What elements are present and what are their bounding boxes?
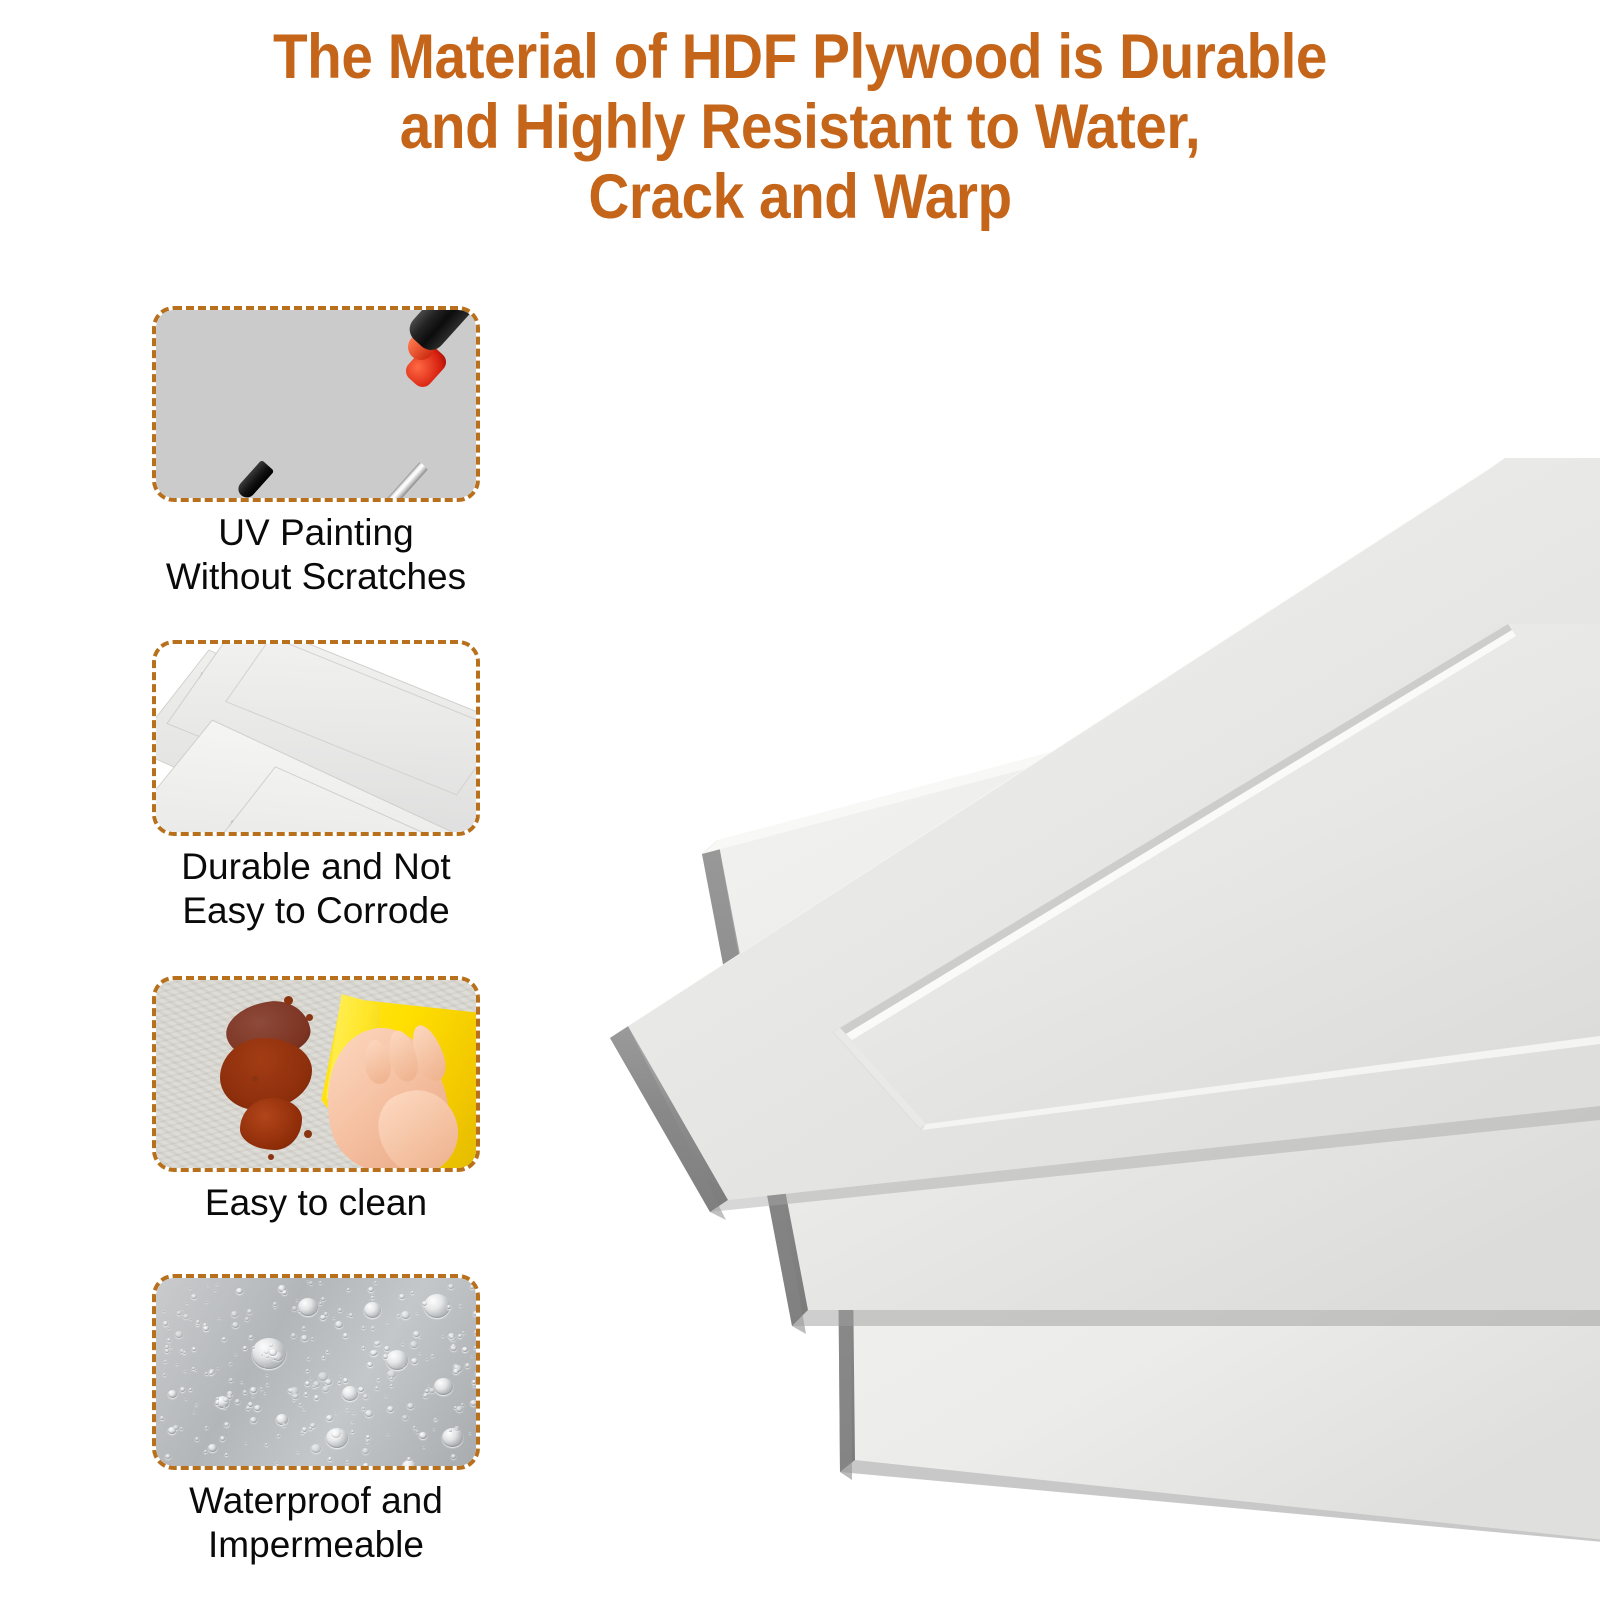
water-drop bbox=[195, 1369, 197, 1371]
panel-stack-illustration bbox=[600, 430, 1600, 1550]
water-drop bbox=[303, 1408, 305, 1410]
water-drop bbox=[189, 1388, 192, 1391]
water-drop bbox=[311, 1444, 321, 1453]
product-image bbox=[600, 430, 1600, 1550]
water-drop bbox=[435, 1418, 437, 1420]
water-drop bbox=[433, 1428, 435, 1430]
water-drop bbox=[340, 1375, 342, 1377]
stain-speck bbox=[306, 1014, 313, 1021]
water-drop bbox=[347, 1314, 349, 1316]
water-drop bbox=[218, 1317, 220, 1319]
water-drop bbox=[472, 1380, 476, 1384]
water-drop bbox=[196, 1320, 200, 1324]
water-drop bbox=[462, 1331, 465, 1334]
water-drop bbox=[353, 1412, 355, 1414]
water-drop bbox=[229, 1362, 232, 1365]
water-drop bbox=[310, 1377, 312, 1379]
water-drop bbox=[301, 1335, 308, 1341]
water-drop bbox=[302, 1427, 307, 1432]
water-drop bbox=[403, 1365, 405, 1367]
water-drop bbox=[320, 1315, 326, 1320]
feature-item-waterproof: Waterproof and Impermeable bbox=[152, 1274, 488, 1567]
screwdriver-icon bbox=[156, 310, 476, 498]
water-drop bbox=[331, 1429, 341, 1438]
water-drop bbox=[264, 1392, 266, 1394]
water-drop bbox=[474, 1330, 479, 1335]
water-drop bbox=[386, 1350, 408, 1370]
water-drop bbox=[351, 1421, 353, 1423]
water-drop bbox=[180, 1427, 183, 1430]
water-drop bbox=[160, 1416, 164, 1420]
water-drop bbox=[363, 1463, 369, 1468]
water-drop bbox=[473, 1385, 475, 1387]
water-drop bbox=[243, 1390, 247, 1394]
water-drop bbox=[422, 1301, 427, 1306]
water-drop bbox=[241, 1381, 243, 1383]
water-drop bbox=[180, 1387, 185, 1392]
water-drop bbox=[333, 1317, 335, 1319]
water-drop bbox=[326, 1350, 329, 1353]
water-drop bbox=[419, 1336, 421, 1338]
water-drop bbox=[311, 1337, 314, 1340]
water-drop bbox=[434, 1378, 453, 1395]
water-drop bbox=[456, 1406, 463, 1412]
water-drop bbox=[305, 1381, 310, 1386]
water-drop bbox=[449, 1429, 452, 1432]
water-drop bbox=[375, 1386, 379, 1390]
stacked-panels-icon bbox=[156, 644, 476, 832]
water-drop bbox=[321, 1297, 325, 1301]
water-drop bbox=[370, 1350, 377, 1356]
water-drop bbox=[362, 1326, 365, 1329]
water-drop bbox=[314, 1395, 319, 1400]
water-drop bbox=[471, 1355, 473, 1357]
water-drop bbox=[447, 1305, 451, 1309]
water-drop bbox=[266, 1374, 268, 1376]
water-drop bbox=[401, 1311, 410, 1319]
water-drop bbox=[177, 1311, 181, 1315]
water-drop bbox=[426, 1358, 428, 1360]
water-drop bbox=[223, 1406, 226, 1409]
water-drop bbox=[183, 1351, 186, 1354]
water-drop bbox=[163, 1373, 166, 1376]
water-drop bbox=[190, 1318, 192, 1320]
feature-item-uv-painting: UV Painting Without Scratches bbox=[152, 306, 488, 599]
water-drop bbox=[193, 1411, 195, 1413]
water-drop bbox=[428, 1385, 430, 1387]
water-drop bbox=[215, 1401, 219, 1405]
water-drop bbox=[222, 1337, 226, 1341]
stain-speck bbox=[304, 1130, 312, 1138]
water-drop bbox=[377, 1378, 380, 1381]
water-drop bbox=[346, 1460, 349, 1463]
feature-image-card bbox=[152, 640, 480, 836]
water-drop bbox=[407, 1403, 414, 1409]
water-drop bbox=[413, 1426, 416, 1429]
water-drop bbox=[304, 1392, 308, 1396]
water-drop bbox=[475, 1370, 480, 1376]
water-drop bbox=[469, 1432, 471, 1434]
water-drop bbox=[292, 1306, 297, 1311]
water-drop bbox=[181, 1308, 183, 1310]
water-drop bbox=[442, 1335, 444, 1337]
water-drop bbox=[214, 1289, 216, 1291]
water-drop bbox=[475, 1400, 477, 1402]
water-drop bbox=[448, 1333, 455, 1339]
feature-caption: Durable and Not Easy to Corrode bbox=[152, 845, 480, 933]
water-drop bbox=[366, 1435, 370, 1439]
water-drop bbox=[349, 1313, 353, 1317]
water-drop bbox=[296, 1299, 298, 1301]
water-drop bbox=[346, 1408, 349, 1411]
water-drop bbox=[282, 1423, 286, 1427]
water-drop bbox=[367, 1362, 373, 1367]
water-drop bbox=[419, 1352, 421, 1354]
water-drop bbox=[195, 1404, 197, 1406]
water-drop bbox=[371, 1326, 375, 1330]
water-drop bbox=[205, 1372, 208, 1375]
water-drop bbox=[351, 1430, 354, 1433]
stain-speck bbox=[268, 1154, 274, 1160]
water-drop bbox=[252, 1395, 254, 1397]
water-drop bbox=[254, 1405, 261, 1411]
water-drop bbox=[168, 1427, 176, 1434]
stain-speck bbox=[284, 996, 293, 1005]
water-drop bbox=[396, 1466, 399, 1469]
water-drop bbox=[293, 1399, 295, 1401]
water-drop bbox=[368, 1287, 374, 1292]
water-drop bbox=[184, 1370, 186, 1372]
water-drop bbox=[220, 1436, 225, 1441]
water-drop bbox=[260, 1387, 263, 1390]
water-drop bbox=[328, 1457, 332, 1461]
water-drop bbox=[312, 1385, 315, 1388]
feature-item-durable-not-corrode: Durable and Not Easy to Corrode bbox=[152, 640, 488, 933]
water-drop bbox=[387, 1406, 394, 1412]
water-drop bbox=[386, 1321, 388, 1323]
water-drop bbox=[168, 1390, 177, 1398]
feature-image-card bbox=[152, 1274, 480, 1470]
water-drop bbox=[165, 1454, 171, 1459]
water-drop bbox=[209, 1371, 213, 1375]
water-drop bbox=[442, 1428, 463, 1447]
water-drop bbox=[358, 1387, 364, 1392]
water-drop bbox=[322, 1356, 325, 1359]
water-drop bbox=[235, 1399, 240, 1404]
water-drop bbox=[397, 1314, 400, 1317]
water-drop bbox=[448, 1284, 454, 1289]
water-drop bbox=[390, 1377, 393, 1380]
water-drop bbox=[297, 1451, 299, 1453]
water-drop bbox=[163, 1310, 165, 1312]
water-drop bbox=[402, 1343, 404, 1345]
water-drop bbox=[429, 1388, 435, 1393]
water-drop bbox=[236, 1288, 243, 1294]
water-drop bbox=[192, 1347, 196, 1351]
water-drop bbox=[385, 1395, 387, 1397]
water-drop bbox=[186, 1302, 188, 1304]
water-drop bbox=[167, 1338, 171, 1342]
water-drop bbox=[410, 1341, 418, 1348]
water-drop bbox=[383, 1354, 388, 1359]
water-drop bbox=[470, 1285, 474, 1289]
feature-item-easy-to-clean: Easy to clean bbox=[152, 976, 488, 1225]
screwdriver-tip bbox=[235, 460, 274, 501]
water-drop bbox=[208, 1444, 217, 1452]
water-drop bbox=[216, 1397, 219, 1400]
water-drop bbox=[335, 1412, 337, 1414]
water-drop bbox=[309, 1281, 313, 1285]
water-drop bbox=[325, 1379, 332, 1385]
feature-caption: Easy to clean bbox=[152, 1181, 480, 1225]
water-drop bbox=[387, 1433, 389, 1435]
water-drop bbox=[206, 1301, 208, 1303]
water-drop bbox=[362, 1346, 365, 1349]
water-drop bbox=[384, 1346, 390, 1351]
water-drop bbox=[423, 1446, 425, 1448]
water-drop bbox=[416, 1430, 419, 1433]
water-drop bbox=[306, 1369, 309, 1372]
water-drop bbox=[309, 1427, 312, 1430]
water-drop bbox=[451, 1454, 456, 1459]
water-drop bbox=[461, 1403, 464, 1406]
water-drop bbox=[269, 1343, 273, 1347]
water-drop bbox=[252, 1346, 255, 1349]
water-drop bbox=[261, 1354, 263, 1356]
water-drop bbox=[195, 1437, 199, 1441]
water-drop bbox=[371, 1296, 374, 1299]
water-drop bbox=[250, 1417, 257, 1423]
water-drop bbox=[374, 1281, 377, 1284]
water-drop bbox=[338, 1381, 341, 1384]
water-drop bbox=[250, 1387, 257, 1393]
water-drop bbox=[423, 1393, 428, 1398]
water-drop bbox=[413, 1331, 420, 1337]
water-drop bbox=[299, 1403, 302, 1406]
water-drop bbox=[399, 1294, 405, 1299]
water-drop bbox=[298, 1298, 318, 1316]
water-drop bbox=[362, 1448, 369, 1454]
feature-image-card bbox=[152, 976, 480, 1172]
water-drop bbox=[326, 1415, 333, 1421]
water-drop bbox=[164, 1360, 167, 1363]
water-drop bbox=[363, 1394, 368, 1399]
water-drop bbox=[459, 1304, 462, 1307]
water-drop bbox=[416, 1312, 418, 1314]
water-drop bbox=[170, 1346, 172, 1348]
water-drop bbox=[450, 1345, 457, 1351]
water-drop bbox=[245, 1442, 247, 1444]
water-drop bbox=[462, 1347, 468, 1352]
water-drop bbox=[302, 1326, 306, 1330]
water-drop bbox=[338, 1308, 342, 1312]
water-drop bbox=[189, 1287, 191, 1289]
water-drop bbox=[390, 1384, 393, 1387]
water-drop bbox=[183, 1314, 189, 1319]
water-drop bbox=[453, 1369, 459, 1374]
water-drop bbox=[374, 1341, 380, 1346]
water-drop bbox=[175, 1331, 183, 1338]
page-title: The Material of HDF Plywood is Durable a… bbox=[80, 22, 1520, 232]
water-drop bbox=[232, 1322, 239, 1328]
water-drop bbox=[342, 1386, 358, 1401]
feature-caption: UV Painting Without Scratches bbox=[152, 511, 480, 599]
stain-blob bbox=[240, 1098, 302, 1150]
water-drop bbox=[402, 1415, 408, 1420]
water-drop bbox=[402, 1460, 416, 1470]
water-drop bbox=[454, 1426, 460, 1431]
water-drop bbox=[163, 1321, 168, 1326]
water-drop bbox=[245, 1317, 249, 1321]
water-drop bbox=[216, 1283, 218, 1285]
feature-image-card bbox=[152, 306, 480, 502]
water-drop bbox=[247, 1309, 252, 1314]
water-drop bbox=[343, 1333, 348, 1338]
water-drop bbox=[277, 1434, 280, 1437]
water-drop bbox=[264, 1366, 266, 1368]
water-drop bbox=[411, 1291, 414, 1294]
water-drop bbox=[266, 1355, 269, 1358]
water-drop bbox=[165, 1349, 169, 1353]
water-drop bbox=[364, 1302, 381, 1318]
water-drop bbox=[249, 1335, 253, 1339]
water-drop bbox=[465, 1363, 470, 1368]
water-drop bbox=[176, 1363, 178, 1365]
feature-caption: Waterproof and Impermeable bbox=[152, 1479, 480, 1567]
water-drop bbox=[431, 1354, 434, 1357]
water-drop bbox=[474, 1346, 477, 1349]
water-drop bbox=[419, 1432, 427, 1439]
water-drop bbox=[298, 1310, 300, 1312]
water-drop bbox=[347, 1288, 350, 1291]
water-drop bbox=[282, 1290, 287, 1295]
water-drop bbox=[191, 1294, 197, 1299]
water-drop bbox=[223, 1397, 229, 1402]
water-drop bbox=[322, 1386, 329, 1392]
water-drop bbox=[274, 1306, 276, 1308]
water-drop bbox=[307, 1357, 310, 1360]
water-drop bbox=[248, 1402, 253, 1407]
water-drop bbox=[217, 1367, 219, 1369]
water-drop bbox=[243, 1346, 247, 1350]
water-drop bbox=[235, 1353, 237, 1355]
water-drop bbox=[204, 1450, 207, 1453]
water-drop bbox=[473, 1311, 478, 1316]
screwdriver-shaft bbox=[305, 462, 428, 502]
water-drop bbox=[276, 1462, 278, 1464]
water-drop bbox=[203, 1326, 209, 1331]
water-drop bbox=[229, 1378, 233, 1382]
water-drop bbox=[291, 1333, 296, 1338]
water-drop bbox=[343, 1378, 348, 1383]
water-drop bbox=[335, 1321, 343, 1328]
water-drop bbox=[362, 1407, 365, 1410]
water-drop bbox=[168, 1327, 170, 1329]
water-drop bbox=[458, 1334, 462, 1338]
water-drop bbox=[231, 1311, 238, 1317]
water-drop bbox=[205, 1426, 208, 1429]
water-drop bbox=[411, 1358, 418, 1364]
water-drop bbox=[366, 1440, 369, 1443]
water-drop bbox=[225, 1453, 228, 1456]
water-drop bbox=[269, 1349, 277, 1356]
water-drop bbox=[292, 1393, 299, 1399]
water-drop bbox=[407, 1457, 411, 1461]
water-drop bbox=[185, 1398, 187, 1400]
water-drop bbox=[319, 1302, 322, 1305]
water-drop bbox=[265, 1443, 268, 1446]
water-drop bbox=[224, 1422, 229, 1427]
water-drop bbox=[207, 1284, 209, 1286]
water-drop bbox=[319, 1281, 322, 1284]
stain-speck bbox=[252, 1076, 258, 1082]
water-drop bbox=[365, 1410, 373, 1417]
water-drop bbox=[266, 1383, 269, 1386]
